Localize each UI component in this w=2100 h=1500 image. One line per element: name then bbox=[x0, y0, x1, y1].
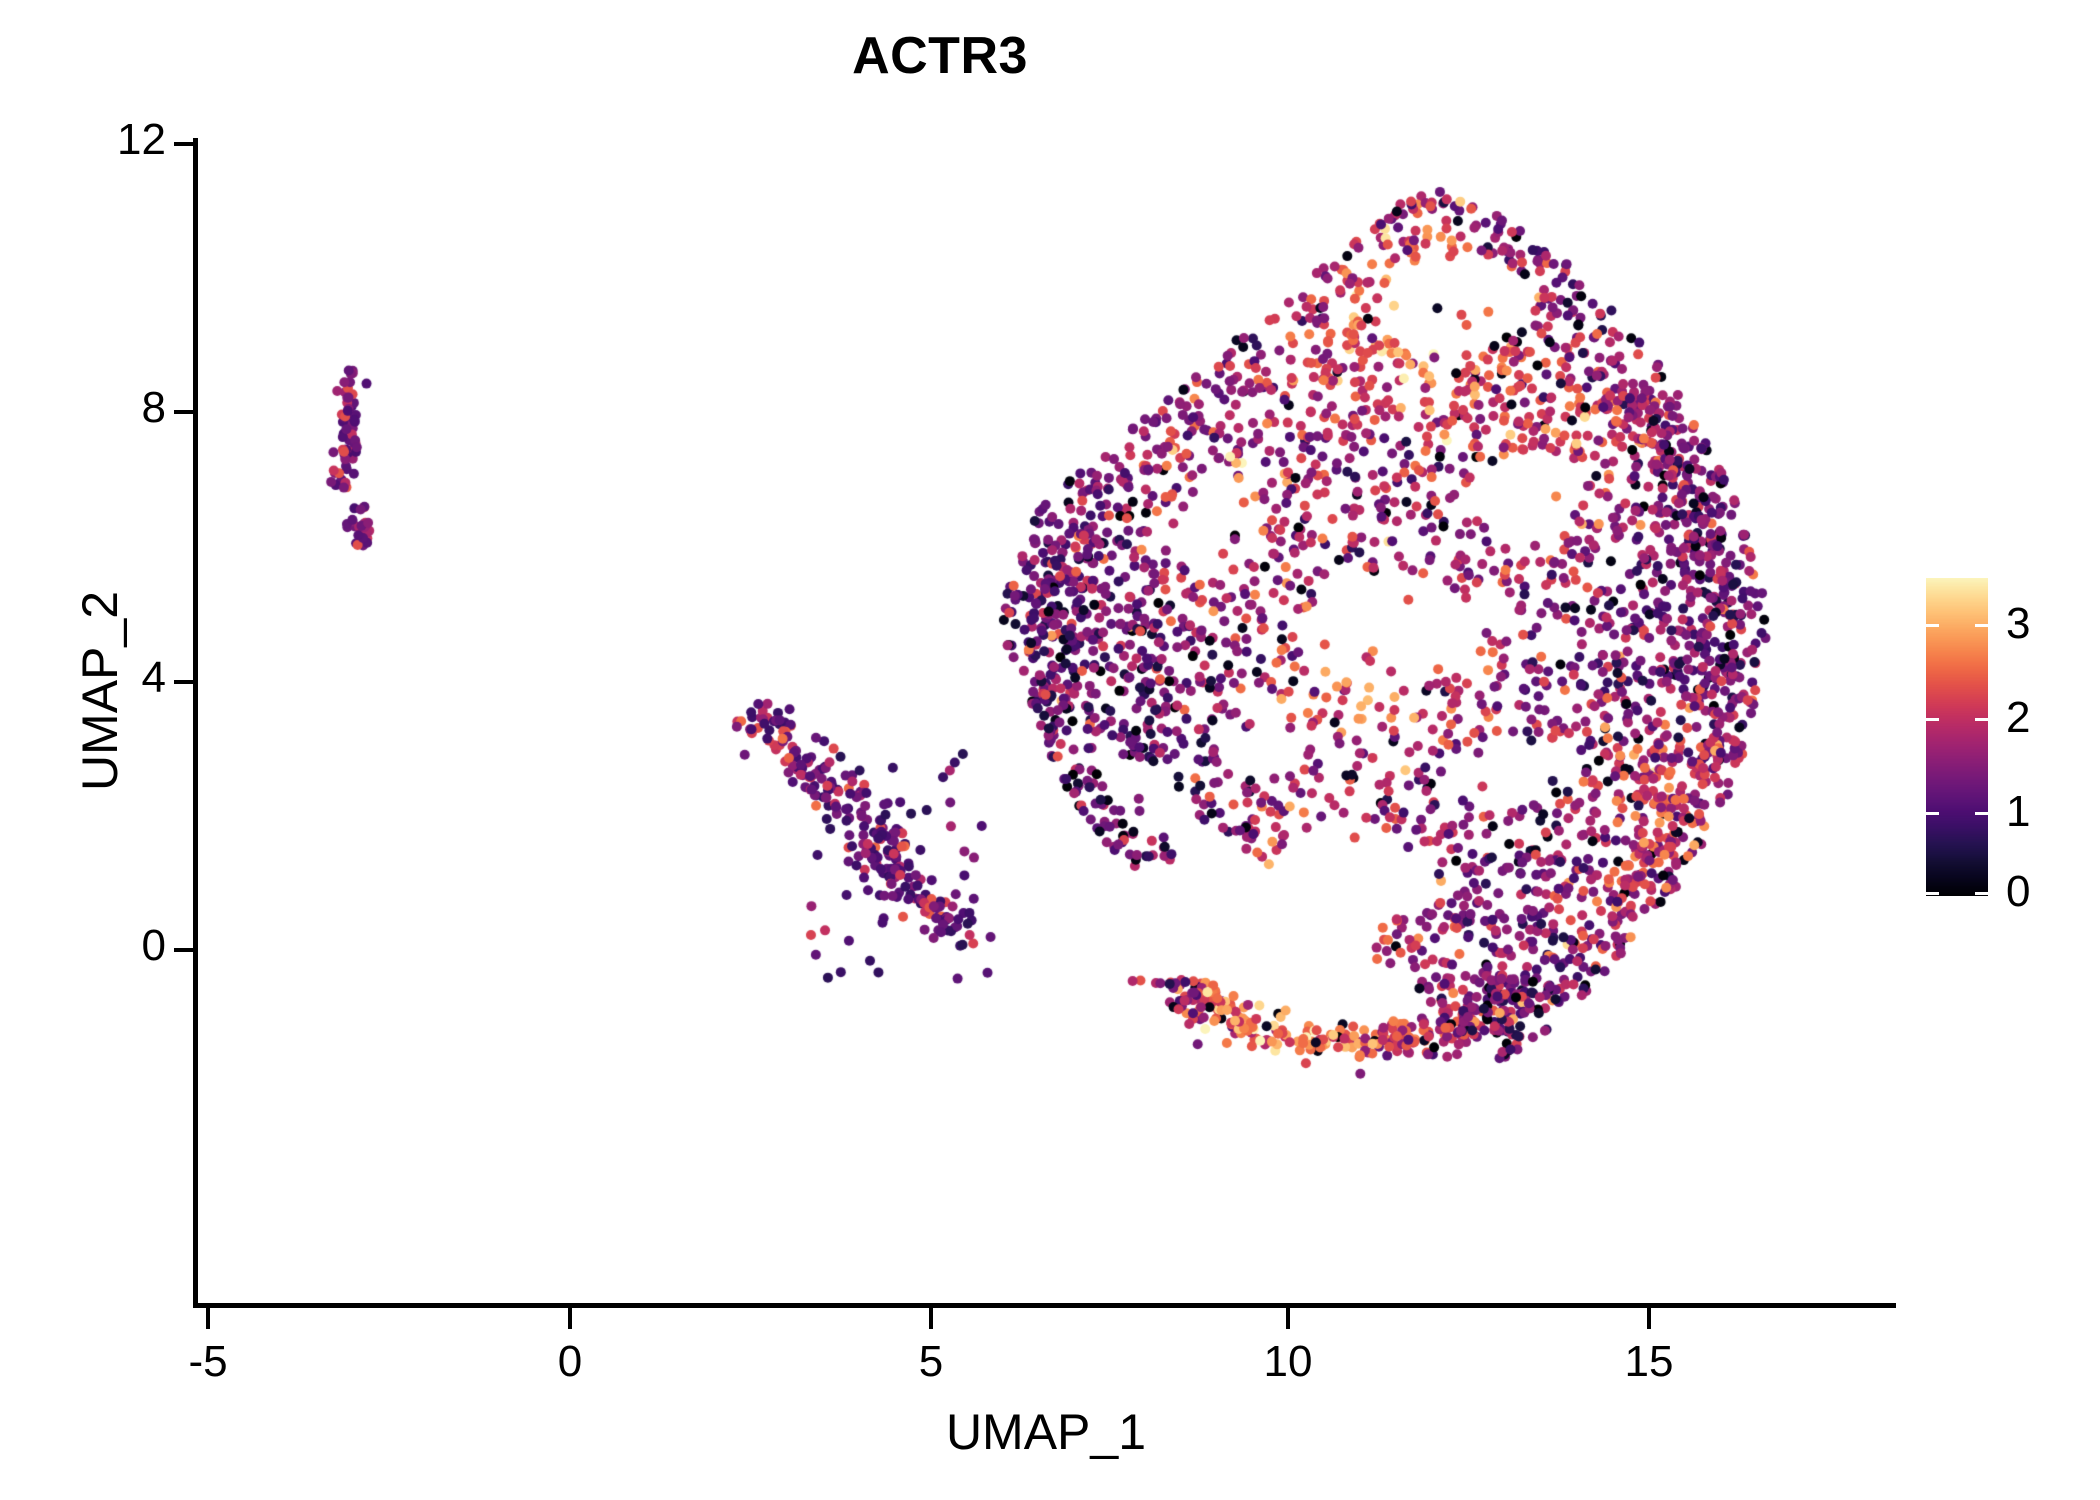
colorbar-label-3: 3 bbox=[2006, 602, 2076, 646]
plot-panel bbox=[196, 140, 1896, 1305]
x-tick-mark-15 bbox=[1647, 1308, 1651, 1329]
y-tick-mark-4 bbox=[174, 680, 194, 684]
y-axis-line bbox=[193, 138, 198, 1308]
colorbar-tick-3-right bbox=[1975, 624, 1988, 627]
x-tick-label-10: 10 bbox=[1208, 1340, 1368, 1384]
colorbar-tick-0-left bbox=[1926, 892, 1939, 895]
x-tick-label-15: 15 bbox=[1569, 1340, 1729, 1384]
y-tick-label-12: 12 bbox=[46, 118, 166, 162]
x-tick-label-neg5: -5 bbox=[128, 1340, 288, 1384]
colorbar-tick-0-right bbox=[1975, 892, 1988, 895]
y-tick-mark-12 bbox=[174, 142, 194, 146]
x-tick-mark-10 bbox=[1286, 1308, 1290, 1329]
colorbar-tick-1-right bbox=[1975, 812, 1988, 815]
y-tick-mark-0 bbox=[174, 948, 194, 952]
y-axis-title: UMAP_2 bbox=[71, 341, 129, 1041]
x-tick-mark-neg5 bbox=[206, 1308, 210, 1329]
colorbar-label-1: 1 bbox=[2006, 790, 2076, 834]
x-axis-title: UMAP_1 bbox=[196, 1403, 1896, 1461]
x-tick-mark-5 bbox=[929, 1308, 933, 1329]
x-tick-label-0: 0 bbox=[490, 1340, 650, 1384]
colorbar-tick-2-left bbox=[1926, 718, 1939, 721]
x-axis-line bbox=[193, 1303, 1896, 1308]
colorbar-tick-1-left bbox=[1926, 812, 1939, 815]
scatter-points-layer bbox=[196, 140, 1896, 1305]
colorbar-tick-2-right bbox=[1975, 718, 1988, 721]
colorbar-legend bbox=[1926, 578, 1988, 896]
y-tick-mark-8 bbox=[174, 410, 194, 414]
x-tick-label-5: 5 bbox=[851, 1340, 1011, 1384]
page-title: ACTR3 bbox=[0, 26, 1880, 86]
x-tick-mark-0 bbox=[568, 1308, 572, 1329]
umap-feature-plot: ACTR3 12 8 4 0 -5 0 5 10 15 UMAP_1 UMAP_… bbox=[0, 0, 2100, 1500]
colorbar-label-2: 2 bbox=[2006, 696, 2076, 740]
colorbar-tick-3-left bbox=[1926, 624, 1939, 627]
colorbar-label-0: 0 bbox=[2006, 870, 2076, 914]
